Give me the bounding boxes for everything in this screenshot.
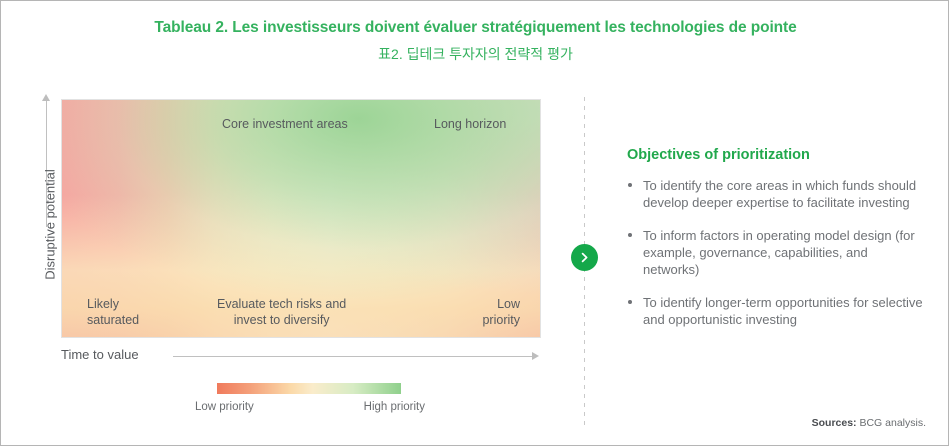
y-axis: Disruptive potential	[31, 99, 55, 338]
objectives-panel: Objectives of prioritization To identify…	[627, 147, 927, 344]
list-item: To identify the core areas in which fund…	[627, 177, 927, 211]
quadrant-label-likely-saturated: Likely saturated	[87, 296, 139, 328]
list-item: To identify longer-term opportunities fo…	[627, 294, 927, 328]
legend-label-high: High priority	[364, 401, 425, 413]
legend-gradient-bar	[217, 383, 401, 394]
figure-card: Tableau 2. Les investisseurs doivent éva…	[0, 0, 949, 446]
legend-labels: Low priority High priority	[217, 401, 401, 417]
arrow-up-icon	[42, 94, 50, 101]
bullet-icon	[628, 233, 632, 237]
matrix-gradient: Core investment areas Long horizon Likel…	[61, 99, 541, 338]
bullet-icon	[628, 300, 632, 304]
quadrant-label-long-horizon: Long horizon	[434, 116, 506, 132]
list-item: To inform factors in operating model des…	[627, 227, 927, 278]
quadrant-label-evaluate-tech-risks: Evaluate tech risks and invest to divers…	[217, 296, 346, 328]
sources-label: Sources:	[812, 417, 857, 429]
page-title-french: Tableau 2. Les investisseurs doivent éva…	[1, 19, 950, 37]
x-axis-label: Time to value	[61, 347, 139, 362]
arrow-right-icon	[532, 352, 539, 360]
title-block: Tableau 2. Les investisseurs doivent éva…	[1, 19, 950, 64]
sources-value: BCG analysis.	[857, 417, 926, 429]
page-title-korean: 표2. 딥테크 투자자의 전략적 평가	[1, 44, 950, 64]
sources-line: Sources: BCG analysis.	[812, 417, 926, 429]
chevron-right-icon[interactable]	[571, 244, 598, 271]
x-axis: Time to value	[61, 347, 541, 367]
priority-matrix: Core investment areas Long horizon Likel…	[61, 99, 541, 338]
bullet-icon	[628, 183, 632, 187]
list-item-text: To identify longer-term opportunities fo…	[643, 295, 923, 327]
list-item-text: To identify the core areas in which fund…	[643, 178, 916, 210]
legend-label-low: Low priority	[195, 401, 254, 413]
y-axis-label: Disruptive potential	[43, 150, 58, 300]
color-legend: Low priority High priority	[217, 383, 401, 417]
quadrant-label-core-investment-areas: Core investment areas	[222, 116, 348, 132]
quadrant-label-low-priority: Low priority	[468, 296, 520, 328]
x-axis-line	[173, 356, 533, 357]
list-item-text: To inform factors in operating model des…	[643, 228, 915, 277]
panel-heading: Objectives of prioritization	[627, 147, 927, 163]
